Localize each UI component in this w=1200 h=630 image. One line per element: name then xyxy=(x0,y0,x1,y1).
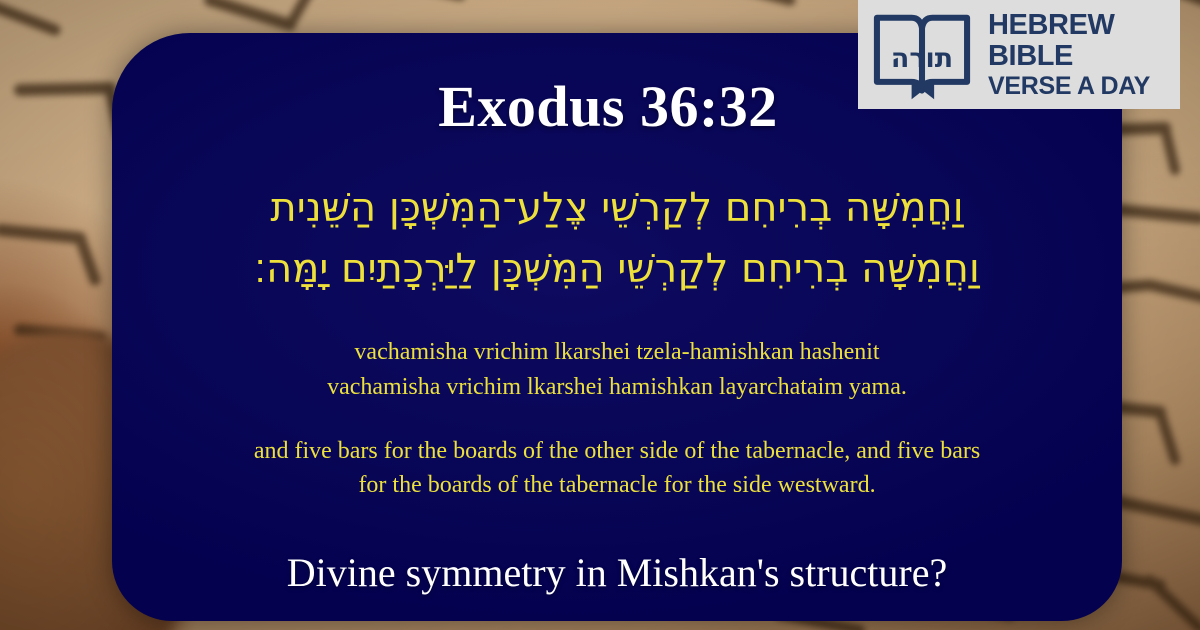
verse-image-canvas: Exodus 36:32 וַחֲמִשָּׁה בְרִיחִם לְקַרְ… xyxy=(0,0,1200,630)
logo-line-bible: BIBLE xyxy=(988,42,1150,71)
transliteration-line-2: vachamisha vrichim lkarshei hamishkan la… xyxy=(172,370,1062,404)
brand-logo[interactable]: תורה HEBREW BIBLE VERSE A DAY xyxy=(858,0,1180,109)
english-translation: and five bars for the boards of the othe… xyxy=(242,434,992,504)
bottom-caption: Divine symmetry in Mishkan's structure? xyxy=(112,551,1122,595)
torah-hebrew-word: תורה xyxy=(891,42,953,73)
hebrew-verse-line-2: וַחֲמִשָּׁה בְרִיחִם לְקַרְשֵׁי הַמִּשְׁ… xyxy=(138,239,1096,300)
logo-line-hebrew: HEBREW xyxy=(988,11,1150,40)
transliteration-line-1: vachamisha vrichim lkarshei tzela-hamish… xyxy=(172,335,1062,369)
logo-wordmark: HEBREW BIBLE VERSE A DAY xyxy=(988,11,1150,99)
hebrew-verse-block: וַחֲמִשָּׁה בְרִיחִם לְקַרְשֵׁי צֶלַע־הַ… xyxy=(138,178,1096,300)
logo-line-verse-a-day: VERSE A DAY xyxy=(988,74,1150,99)
transliteration-block: vachamisha vrichim lkarshei tzela-hamish… xyxy=(172,335,1062,403)
verse-card: Exodus 36:32 וַחֲמִשָּׁה בְרִיחִם לְקַרְ… xyxy=(112,33,1122,621)
hebrew-verse-line-1: וַחֲמִשָּׁה בְרִיחִם לְקַרְשֵׁי צֶלַע־הַ… xyxy=(138,178,1096,239)
open-book-icon: תורה xyxy=(870,9,974,101)
